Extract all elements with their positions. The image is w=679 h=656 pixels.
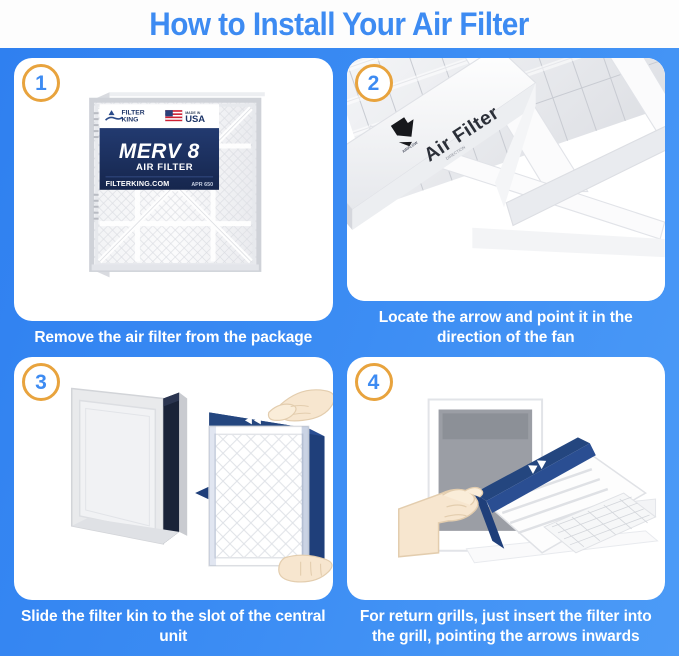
filter-corner-with-airflow-arrow: AIRFLOW Air Filter DIRECTION — [347, 58, 666, 301]
svg-text:AIR FILTER: AIR FILTER — [136, 162, 193, 173]
infographic-root: How to Install Your Air Filter — [0, 0, 679, 656]
step-2-card: AIRFLOW Air Filter DIRECTION 2 — [347, 58, 666, 301]
svg-text:FILTER: FILTER — [121, 110, 144, 117]
step-1: FILTER KING MADE IN USA — [14, 58, 333, 349]
step-1-badge: 1 — [22, 64, 60, 102]
svg-text:APR 650: APR 650 — [191, 182, 213, 188]
step-1-card: FILTER KING MADE IN USA — [14, 58, 333, 321]
svg-text:MERV 8: MERV 8 — [119, 140, 200, 163]
step-2-caption: Locate the arrow and point it in the dir… — [347, 301, 666, 349]
step-4: 4 For return grills, just insert the fil… — [347, 357, 666, 648]
svg-text:KING: KING — [121, 117, 138, 124]
step-1-caption: Remove the air filter from the package — [14, 321, 333, 349]
step-3: 3 Slide the filter kin to the slot of th… — [14, 357, 333, 648]
svg-text:USA: USA — [185, 114, 205, 125]
step-4-card: 4 — [347, 357, 666, 600]
step-3-card: 3 — [14, 357, 333, 600]
filter-inserted-into-ceiling-return-grill — [347, 357, 666, 600]
filter-sliding-into-central-unit — [14, 357, 333, 600]
step-4-badge: 4 — [355, 363, 393, 401]
step-3-badge: 3 — [22, 363, 60, 401]
header-band: How to Install Your Air Filter — [0, 0, 679, 48]
step-4-caption: For return grills, just insert the filte… — [347, 600, 666, 648]
step-3-caption: Slide the filter kin to the slot of the … — [14, 600, 333, 648]
air-filter-product-photo: FILTER KING MADE IN USA — [14, 58, 333, 321]
step-2: AIRFLOW Air Filter DIRECTION 2 Locate th… — [347, 58, 666, 349]
page-title: How to Install Your Air Filter — [150, 8, 530, 40]
steps-grid: FILTER KING MADE IN USA — [0, 48, 679, 656]
svg-text:FILTERKING.COM: FILTERKING.COM — [106, 180, 170, 188]
step-2-badge: 2 — [355, 64, 393, 102]
